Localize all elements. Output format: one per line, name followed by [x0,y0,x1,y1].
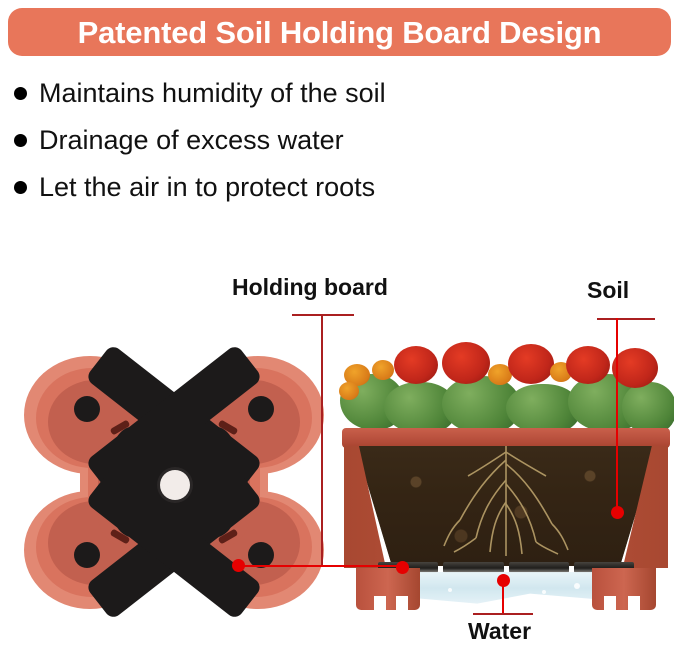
page-title: Patented Soil Holding Board Design [78,17,602,48]
bullet-icon [14,181,27,194]
feature-text: Maintains humidity of the soil [39,74,386,112]
leader-line-water-stem [502,580,504,614]
drain-hole-icon [160,470,190,500]
list-item: Drainage of excess water [14,121,534,168]
flower-foliage [338,330,674,432]
pot-foot-left [356,568,420,610]
leader-line-soil-bar [597,318,655,320]
pot-foot-right [592,568,656,610]
callout-dot-holding-board-right [396,561,409,574]
callout-label-holding-board: Holding board [232,274,388,301]
leader-line-soil-stem [616,318,618,514]
leader-line-water-bar [473,613,533,615]
feature-list: Maintains humidity of the soil Drainage … [14,74,534,215]
callout-dot-holding-board-left [232,559,245,572]
list-item: Let the air in to protect roots [14,168,534,215]
planter-top-view [18,350,330,615]
bullet-icon [14,134,27,147]
planter-cross-section [338,330,674,600]
root-system-icon [356,446,656,568]
callout-dot-soil [611,506,624,519]
header-banner: Patented Soil Holding Board Design [8,8,671,56]
leader-line-holding-board-run [238,565,406,567]
feature-text: Let the air in to protect roots [39,168,375,206]
callout-label-water: Water [468,618,531,645]
list-item: Maintains humidity of the soil [14,74,534,121]
bullet-icon [14,87,27,100]
feature-text: Drainage of excess water [39,121,344,159]
leader-line-holding-board-stem [321,314,323,566]
callout-label-soil: Soil [587,277,629,304]
leader-line-holding-board-bar [292,314,354,316]
holding-board-insert [72,392,276,572]
pot-rim [342,428,670,448]
